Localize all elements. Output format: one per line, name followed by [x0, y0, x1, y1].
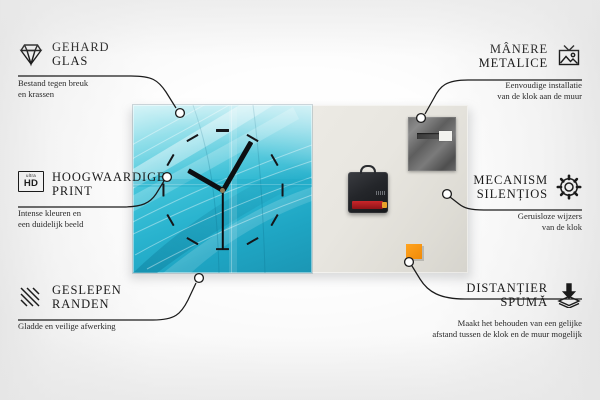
ultra-hd-icon: ultra HD: [18, 171, 44, 197]
callout-description: Eenvoudige installatie van de klok aan d…: [479, 80, 582, 101]
callout-header: GESLEPEN RANDEN: [18, 283, 122, 311]
glass-seam-horizontal: [133, 184, 312, 185]
metal-hanger-plate: [408, 117, 456, 171]
callout-header: MÂNERE METALICE: [479, 42, 582, 70]
callout-description: Bestand tegen breuk en krassen: [18, 78, 109, 99]
callout-connectors: [0, 0, 600, 400]
callout-title: HOOGWAARDIGE PRINT: [52, 170, 166, 198]
gear-icon: [556, 174, 582, 200]
callout-title: MECANISM SILENȚIOS: [473, 173, 548, 201]
callout-hoogwaardige-print: ultra HD HOOGWAARDIGE PRINT Intense kleu…: [18, 170, 166, 229]
callout-mecanism-silentios: MECANISM SILENȚIOS Geruisloze wijzers va…: [473, 173, 582, 232]
connector-dot-print: [163, 173, 172, 182]
callout-header: GEHARD GLAS: [18, 40, 109, 68]
diamond-icon: [18, 41, 44, 67]
foam-spacer-press-icon: [556, 282, 582, 308]
connector-dot-glas: [176, 109, 185, 118]
connector-dot-manere: [417, 114, 426, 123]
hanger-slot: [417, 133, 441, 139]
connector-dot-distantier: [405, 258, 414, 267]
callout-header: DISTANȚIER SPUMĂ: [432, 281, 582, 309]
callout-geslepen-randen: GESLEPEN RANDEN Gladde en veilige afwerk…: [18, 283, 122, 332]
callout-title: GEHARD GLAS: [52, 40, 109, 68]
clock-tick: [216, 129, 229, 131]
battery: [352, 201, 383, 209]
clock-tick: [270, 214, 278, 226]
callout-distantier-spuma: DISTANȚIER SPUMĂ Maakt het behouden van …: [432, 281, 582, 339]
clock-mechanism: [348, 172, 388, 213]
callout-title: MÂNERE METALICE: [479, 42, 548, 70]
glass-seam-vertical: [231, 105, 232, 273]
mechanism-label: [376, 191, 385, 195]
clock-tick: [246, 237, 258, 245]
product-back-panel: [311, 105, 468, 273]
clock-tick: [246, 134, 258, 142]
clock-tick: [281, 183, 283, 196]
second-hand: [222, 190, 224, 250]
callout-description: Maakt het behouden van een gelijke afsta…: [432, 318, 582, 339]
product-shadow: [130, 109, 471, 279]
clock-tick: [216, 248, 229, 250]
minute-hand: [221, 140, 253, 191]
clock-tick: [162, 183, 164, 196]
clock-center-cap: [220, 188, 225, 193]
picture-hanging-icon: [556, 43, 582, 69]
clock-tick: [167, 154, 175, 166]
callout-description: Geruisloze wijzers van de klok: [473, 211, 582, 232]
callout-title: DISTANȚIER SPUMĂ: [466, 281, 548, 309]
clock-tick: [270, 154, 278, 166]
connector-lines: [0, 0, 600, 400]
infographic-canvas: GEHARD GLAS Bestand tegen breuk en krass…: [0, 0, 600, 400]
clock-tick: [187, 134, 199, 142]
callout-manere-metalice: MÂNERE METALICE Eenvoudige installatie v…: [479, 42, 582, 101]
mechanism-hanging-loop: [360, 165, 376, 174]
feather-pattern: [133, 105, 312, 273]
clock-tick: [187, 237, 199, 245]
connector-dot-mecanism: [443, 190, 452, 199]
product-image: [133, 105, 468, 273]
callout-description: Gladde en veilige afwerking: [18, 321, 122, 332]
callout-title: GESLEPEN RANDEN: [52, 283, 122, 311]
foam-spacer: [406, 244, 422, 259]
callout-description: Intense kleuren en een duidelijk beeld: [18, 208, 166, 229]
callout-header: MECANISM SILENȚIOS: [473, 173, 582, 201]
glass-gloss: [133, 105, 312, 179]
hour-hand: [187, 168, 224, 192]
beveled-edge-icon: [18, 284, 44, 310]
clock-face: [133, 105, 312, 273]
connector-dot-randen: [195, 274, 204, 283]
callout-header: ultra HD HOOGWAARDIGE PRINT: [18, 170, 166, 198]
callout-gehard-glas: GEHARD GLAS Bestand tegen breuk en krass…: [18, 40, 109, 99]
clock-tick: [167, 214, 175, 226]
